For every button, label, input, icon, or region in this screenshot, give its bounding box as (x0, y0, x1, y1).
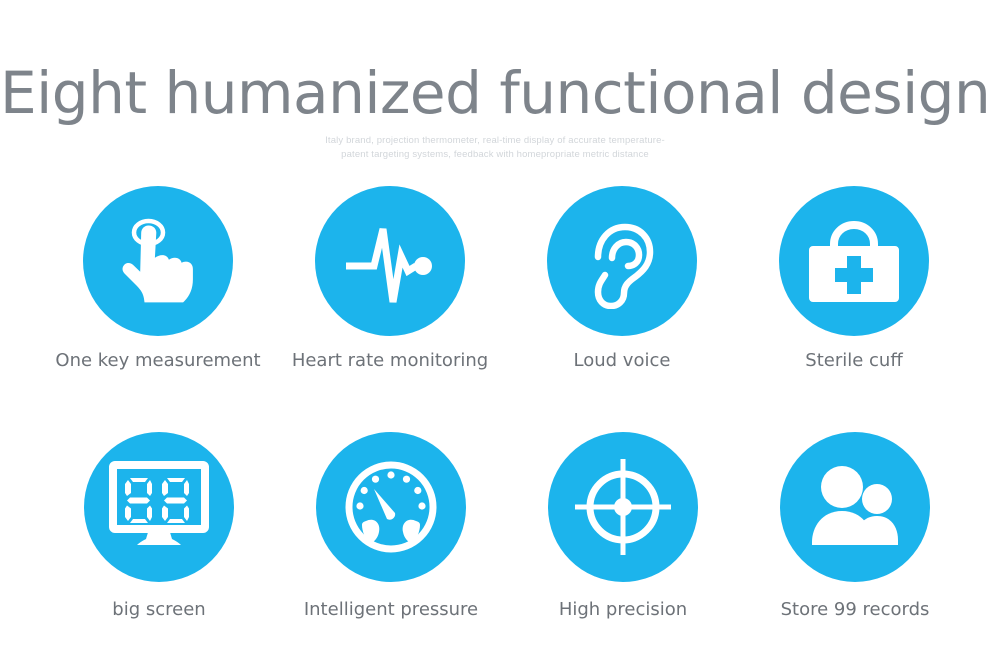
subtitle-line-2: patent targeting systems, feedback with … (0, 148, 990, 163)
feature-row-1: One key measurement Heart rate monitorin… (0, 186, 990, 372)
icon-circle-heart-rate-monitoring (315, 186, 465, 336)
subtitle-line-1: Italy brand, projection thermometer, rea… (0, 134, 990, 149)
feature-high-precision[interactable]: High precision (507, 432, 739, 621)
feature-infographic-page: Eight humanized functional design Italy … (0, 0, 990, 660)
crosshair-target-icon (571, 455, 675, 559)
features-grid: One key measurement Heart rate monitorin… (0, 186, 990, 620)
feature-sterile-cuff[interactable]: Sterile cuff (738, 186, 970, 372)
feature-one-key-measurement[interactable]: One key measurement (42, 186, 274, 372)
icon-circle-big-screen (84, 432, 234, 582)
feature-row-2: big screen (0, 432, 990, 621)
feature-label: High precision (559, 599, 687, 621)
page-title: Eight humanized functional design (0, 0, 990, 125)
feature-intelligent-pressure[interactable]: Intelligent pressure (275, 432, 507, 621)
medical-bag-icon (805, 216, 903, 306)
feature-heart-rate-monitoring[interactable]: Heart rate monitoring (274, 186, 506, 372)
header: Eight humanized functional design Italy … (0, 0, 990, 163)
icon-circle-one-key-measurement (83, 186, 233, 336)
feature-label: Heart rate monitoring (292, 350, 488, 372)
feature-label: Intelligent pressure (304, 599, 478, 621)
feature-label: Loud voice (574, 350, 671, 372)
icon-circle-store-99-records (780, 432, 930, 582)
feature-store-99-records[interactable]: Store 99 records (739, 432, 971, 621)
gauge-meter-icon (342, 458, 440, 556)
feature-big-screen[interactable]: big screen (43, 432, 275, 621)
icon-circle-sterile-cuff (779, 186, 929, 336)
heartbeat-pulse-icon (338, 209, 442, 313)
feature-loud-voice[interactable]: Loud voice (506, 186, 738, 372)
hand-tap-icon (110, 213, 206, 309)
two-people-icon (805, 461, 905, 553)
ear-icon (576, 213, 668, 309)
icon-circle-high-precision (548, 432, 698, 582)
feature-label: Sterile cuff (805, 350, 902, 372)
feature-label: One key measurement (55, 350, 260, 372)
feature-label: big screen (112, 599, 205, 621)
icon-circle-intelligent-pressure (316, 432, 466, 582)
seven-segment-display-icon (109, 461, 209, 553)
feature-label: Store 99 records (781, 599, 930, 621)
subtitle: Italy brand, projection thermometer, rea… (0, 125, 990, 163)
icon-circle-loud-voice (547, 186, 697, 336)
